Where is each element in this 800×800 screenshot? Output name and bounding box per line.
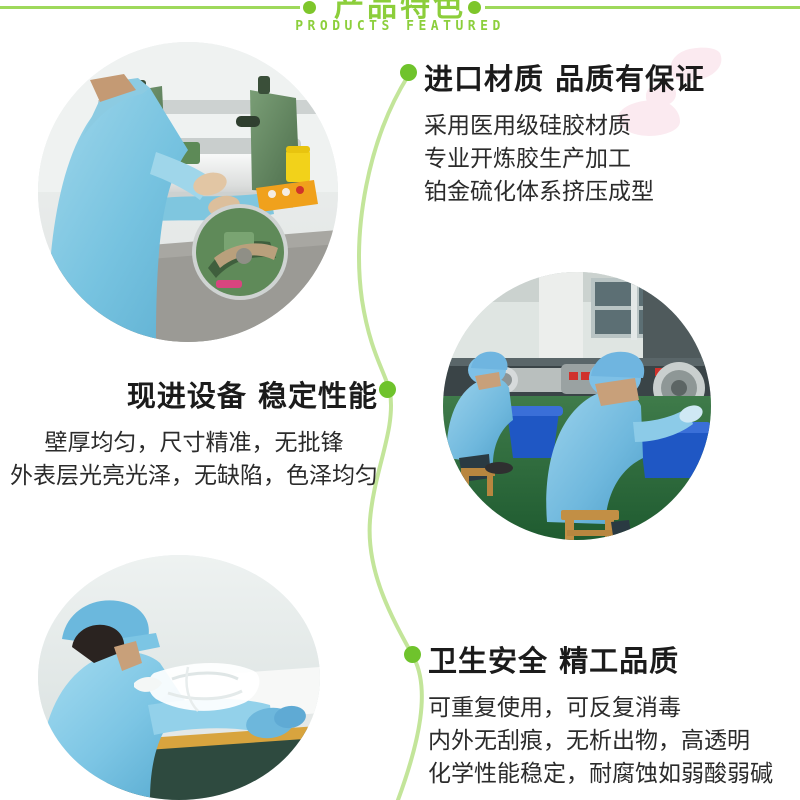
section-title: 卫生安全 精工品质 (428, 638, 798, 680)
section-title: 现进设备 稳定性能 (10, 373, 378, 415)
section-advanced-equipment: 现进设备 稳定性能 壁厚均匀，尺寸精准，无批锋 外表层光亮光泽，无缺陷，色泽均匀 (10, 373, 378, 493)
page-header: 产品特色 PRODUCTS FEATURED (0, 0, 800, 46)
section-body-line: 铂金硫化体系挤压成型 (424, 176, 784, 209)
photo-rubber-mill (38, 42, 338, 342)
section-body-line: 化学性能稳定，耐腐蚀如弱酸弱碱 (428, 758, 798, 791)
photo-extrusion-line (443, 272, 711, 540)
section-body-line: 壁厚均匀，尺寸精准，无批锋 (10, 427, 378, 460)
photo-packing-station (38, 555, 320, 800)
node-dot-section-2-icon (379, 381, 396, 398)
node-dot-section-3-icon (404, 646, 421, 663)
section-hygiene-safety: 卫生安全 精工品质 可重复使用，可反复消毒 内外无刮痕，无析出物，高透明 化学性… (428, 638, 798, 791)
product-features-page: 产品特色 PRODUCTS FEATURED (0, 0, 800, 800)
section-body-line: 外表层光亮光泽，无缺陷，色泽均匀 (10, 460, 378, 493)
section-title: 进口材质 品质有保证 (424, 56, 784, 98)
section-body: 采用医用级硅胶材质 专业开炼胶生产加工 铂金硫化体系挤压成型 (424, 110, 784, 209)
section-body-line: 内外无刮痕，无析出物，高透明 (428, 725, 798, 758)
node-dot-section-1-icon (400, 64, 417, 81)
section-body: 可重复使用，可反复消毒 内外无刮痕，无析出物，高透明 化学性能稳定，耐腐蚀如弱酸… (428, 692, 798, 791)
section-body-line: 专业开炼胶生产加工 (424, 143, 784, 176)
page-subtitle: PRODUCTS FEATURED (0, 19, 800, 34)
section-body: 壁厚均匀，尺寸精准，无批锋 外表层光亮光泽，无缺陷，色泽均匀 (10, 427, 378, 493)
section-imported-material: 进口材质 品质有保证 采用医用级硅胶材质 专业开炼胶生产加工 铂金硫化体系挤压成… (424, 56, 784, 209)
section-body-line: 可重复使用，可反复消毒 (428, 692, 798, 725)
section-body-line: 采用医用级硅胶材质 (424, 110, 784, 143)
